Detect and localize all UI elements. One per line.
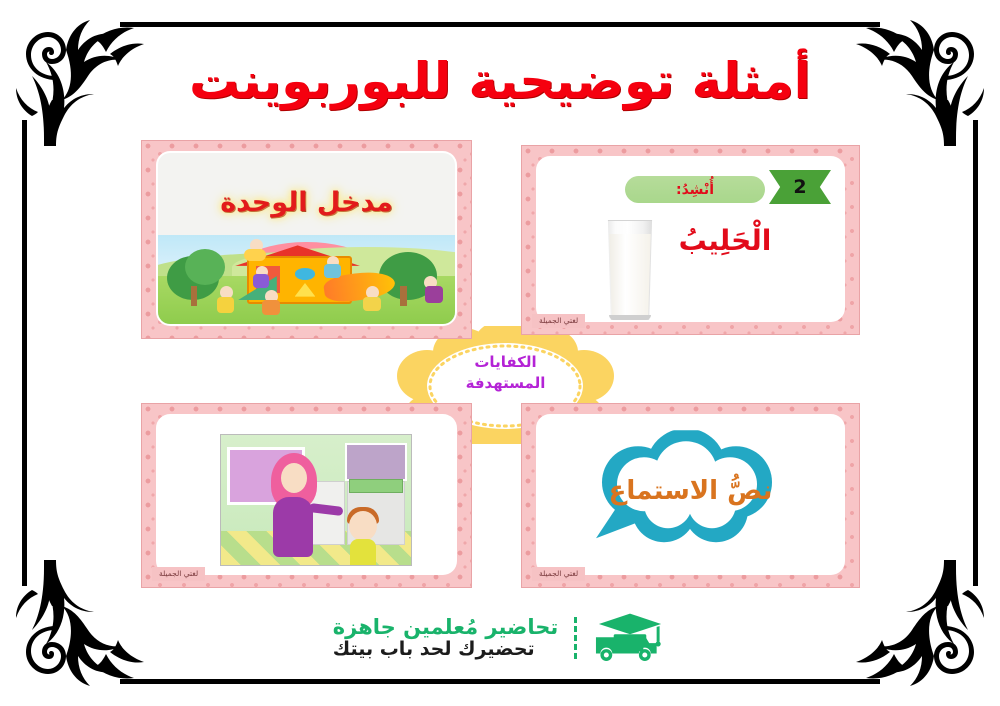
listening-text: نصُّ الاستماع — [538, 475, 843, 505]
lesson-number-ribbon: 2 — [769, 170, 831, 204]
lesson-number: 2 — [793, 176, 806, 198]
page-title: أمثلة توضيحية للبوربوينت — [0, 52, 1000, 110]
slide-entry[interactable]: مدخل الوحدة — [141, 140, 472, 339]
footer-texts: تحاضير مُعلمين جاهزة تحضيرك لحد باب بيتك — [333, 615, 558, 661]
frame-border-bottom — [120, 679, 880, 684]
frame-border-top — [120, 22, 880, 27]
slide-song-canvas: أُنْشِدُ: 2 الْحَلِيبُ — [536, 156, 845, 322]
graduation-truck-icon — [593, 612, 667, 664]
anshidu-pill: أُنْشِدُ: — [625, 176, 765, 203]
footer-line-2: تحضيرك لحد باب بيتك — [333, 639, 535, 661]
slide-kitchen[interactable]: لغتي الجميلة — [141, 403, 472, 588]
footer-divider — [574, 617, 577, 659]
center-badge-text: الكفايات المستهدفة — [393, 352, 618, 394]
slide-tag: لغتي الجميلة — [532, 567, 585, 581]
slide-song[interactable]: أُنْشِدُ: 2 الْحَلِيبُ لغتي الجميلة — [521, 145, 860, 335]
center-badge-line-1: الكفايات — [393, 352, 618, 373]
slide-listening-canvas: نصُّ الاستماع — [536, 414, 845, 575]
frame-border-right — [973, 120, 978, 586]
anshidu-label: أُنْشِدُ: — [676, 182, 714, 198]
slide-tag: لغتي الجميلة — [152, 567, 205, 581]
frame-border-left — [22, 120, 27, 586]
slide-entry-canvas: مدخل الوحدة — [156, 151, 457, 326]
kitchen-illustration — [220, 434, 412, 566]
milk-word: الْحَلِيبُ — [635, 224, 815, 257]
footer-logo-block: تحاضير مُعلمين جاهزة تحضيرك لحد باب بيتك — [0, 608, 1000, 668]
footer-line-1: تحاضير مُعلمين جاهزة — [333, 615, 558, 639]
center-badge-line-2: المستهدفة — [393, 373, 618, 394]
slide-listening[interactable]: نصُّ الاستماع لغتي الجميلة — [521, 403, 860, 588]
slide-entry-title: مدخل الوحدة — [158, 187, 455, 218]
poster-page: أمثلة توضيحية للبوربوينت الكفايات المسته… — [0, 0, 1000, 706]
playground-illustration — [158, 153, 455, 324]
slide-tag: لغتي الجميلة — [532, 314, 585, 328]
slide-kitchen-canvas — [156, 414, 457, 575]
